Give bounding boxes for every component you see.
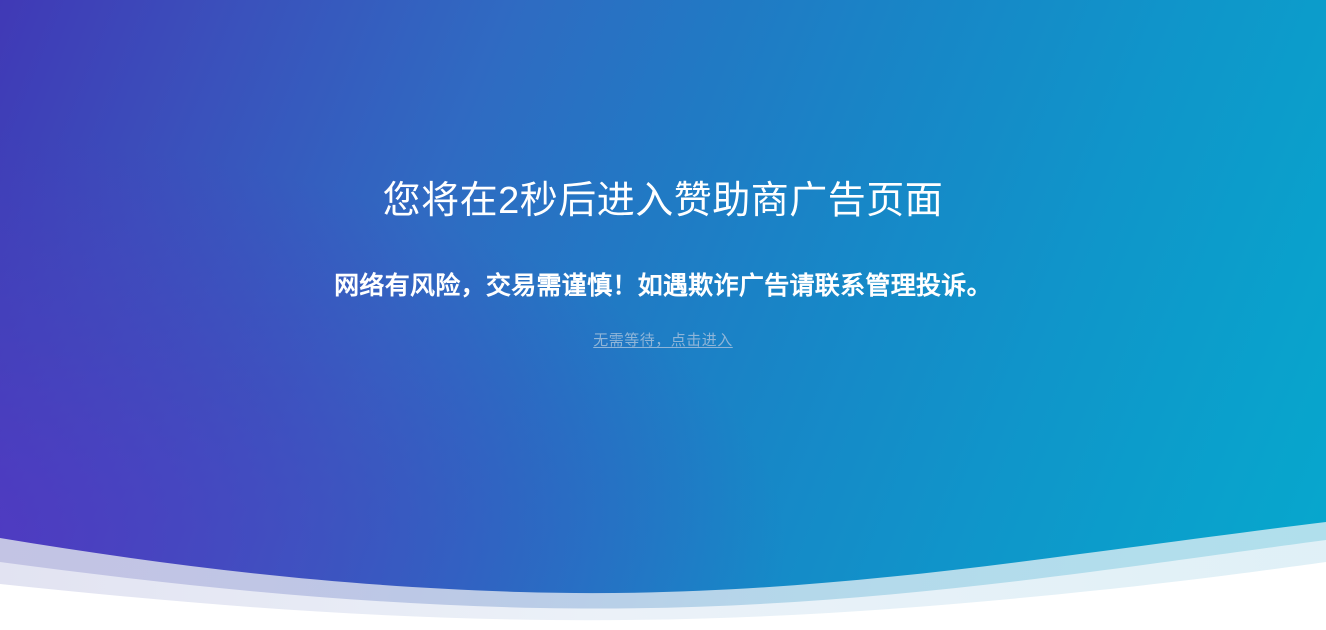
- risk-warning-text: 网络有风险，交易需谨慎！如遇欺诈广告请联系管理投诉。: [0, 226, 1326, 303]
- countdown-headline: 您将在2秒后进入赞助商广告页面: [0, 0, 1326, 226]
- skip-link-container: 无需等待，点击进入: [0, 302, 1326, 351]
- content-block: 您将在2秒后进入赞助商广告页面 网络有风险，交易需谨慎！如遇欺诈广告请联系管理投…: [0, 0, 1326, 351]
- skip-wait-link[interactable]: 无需等待，点击进入: [593, 330, 733, 351]
- interstitial-page: 您将在2秒后进入赞助商广告页面 网络有风险，交易需谨慎！如遇欺诈广告请联系管理投…: [0, 0, 1326, 630]
- bottom-wave-decoration: [0, 510, 1326, 630]
